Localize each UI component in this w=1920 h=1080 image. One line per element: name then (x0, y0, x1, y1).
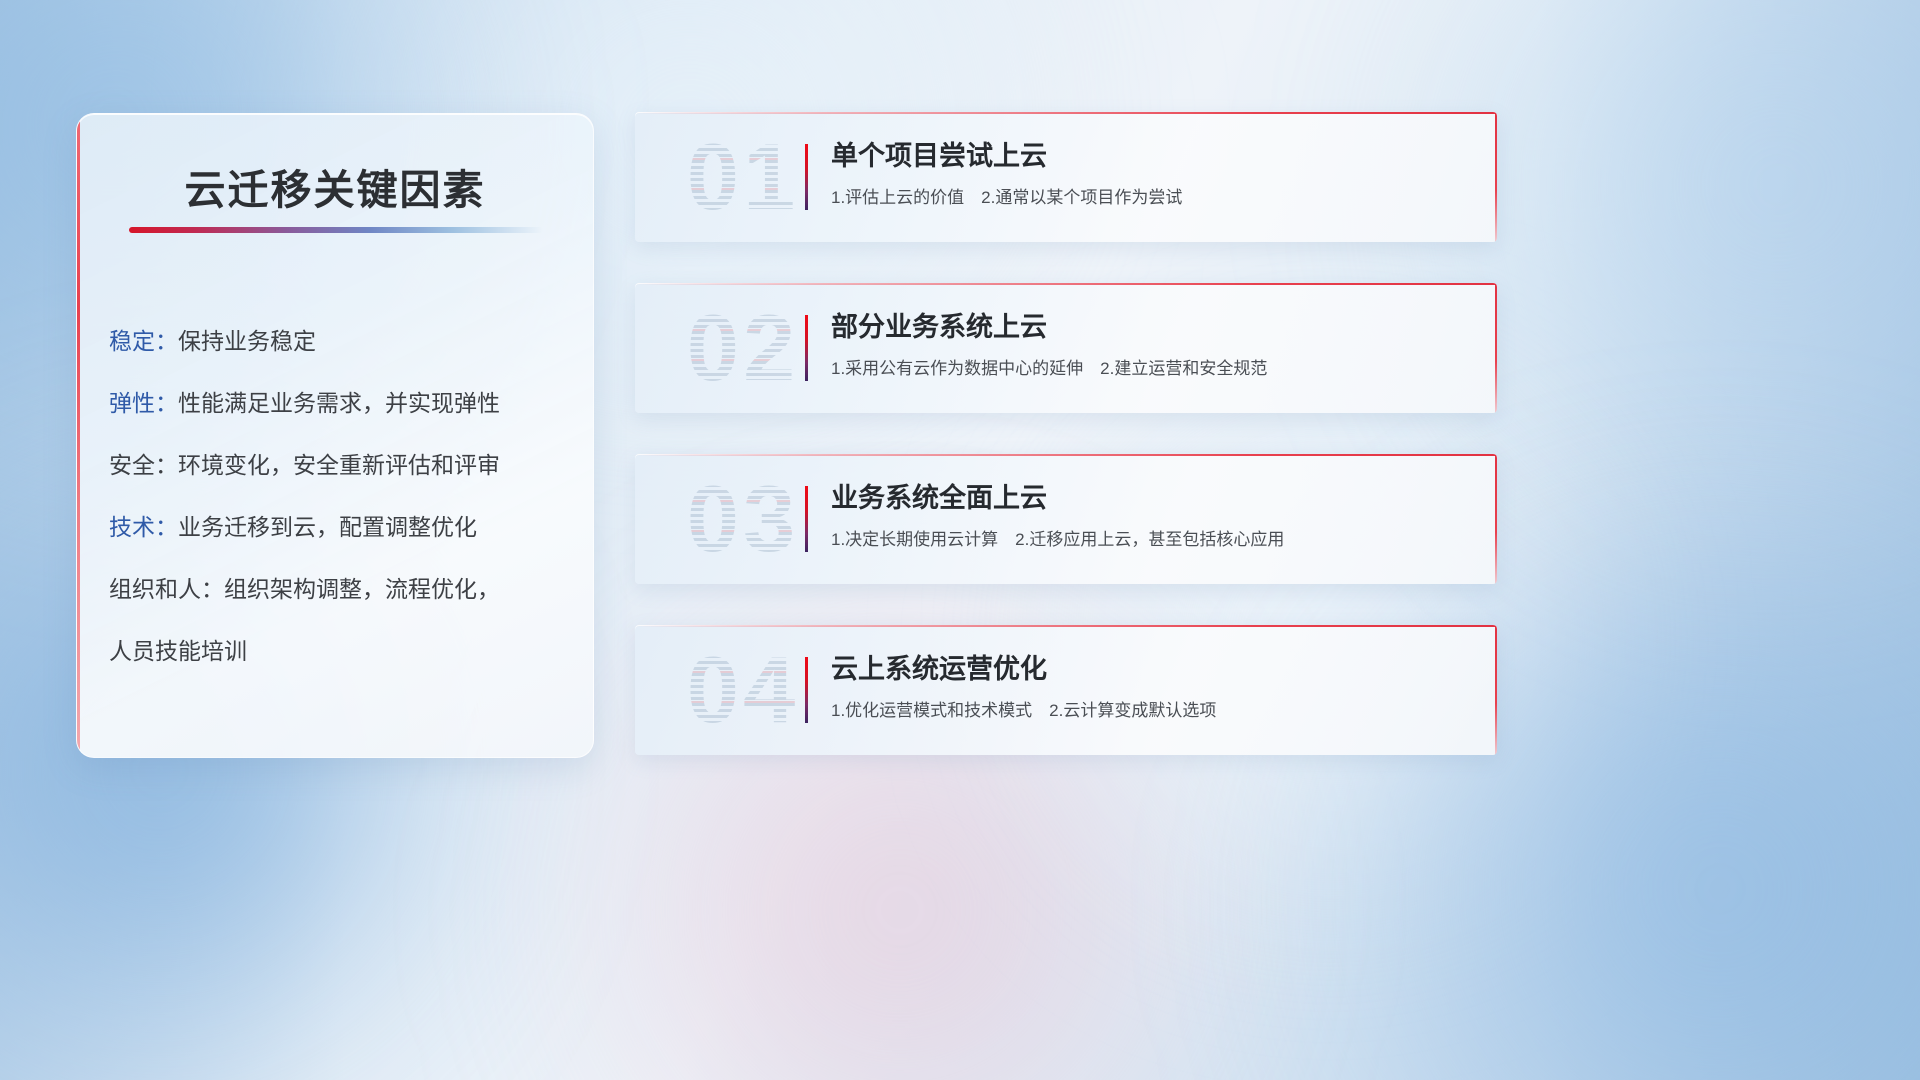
accent-bar (805, 486, 808, 552)
stage-number-ghost-tint: 04 (663, 631, 823, 749)
list-item-key: 技术： (109, 514, 178, 540)
key-factors-list: 稳定：保持业务稳定 弹性：性能满足业务需求，并实现弹性 安全：环境变化，安全重新… (109, 310, 571, 682)
stage-card-body: 单个项目尝试上云 1.评估上云的价值 2.通常以某个项目作为尝试 (831, 136, 1471, 213)
list-item: 技术：业务迁移到云，配置调整优化 (109, 496, 571, 558)
list-item-text: 环境变化，安全重新评估和评审 (178, 452, 500, 478)
list-item: 稳定：保持业务稳定 (109, 310, 571, 372)
stage-card-body: 部分业务系统上云 1.采用公有云作为数据中心的延伸 2.建立运营和安全规范 (831, 307, 1471, 384)
accent-bar (805, 657, 808, 723)
migration-stage-cards: 01 01 单个项目尝试上云 1.评估上云的价值 2.通常以某个项目作为尝试 0… (635, 112, 1497, 796)
stage-card[interactable]: 04 04 云上系统运营优化 1.优化运营模式和技术模式 2.云计算变成默认选项 (635, 625, 1497, 755)
list-item-key: 稳定： (109, 328, 178, 354)
list-item: 弹性：性能满足业务需求，并实现弹性 (109, 372, 571, 434)
list-item-key: 安全： (109, 452, 178, 478)
list-item: 组织和人：组织架构调整，流程优化， (109, 558, 571, 620)
list-item: 安全：环境变化，安全重新评估和评审 (109, 434, 571, 496)
panel-title: 云迁移关键因素 (77, 156, 593, 216)
list-item-key: 弹性： (109, 390, 178, 416)
stage-number-ghost-tint: 01 (663, 118, 823, 236)
stage-card-body: 业务系统全面上云 1.决定长期使用云计算 2.迁移应用上云，甚至包括核心应用 (831, 478, 1471, 555)
stage-card-body: 云上系统运营优化 1.优化运营模式和技术模式 2.云计算变成默认选项 (831, 649, 1471, 726)
stage-card-title: 单个项目尝试上云 (831, 136, 1471, 176)
stage-card-description: 1.优化运营模式和技术模式 2.云计算变成默认选项 (831, 696, 1471, 726)
list-item-text: 保持业务稳定 (178, 328, 316, 354)
accent-bar (805, 315, 808, 381)
stage-card[interactable]: 01 01 单个项目尝试上云 1.评估上云的价值 2.通常以某个项目作为尝试 (635, 112, 1497, 242)
stage-card-title: 业务系统全面上云 (831, 478, 1471, 518)
list-item-key: 组织和人： (109, 576, 224, 602)
stage-card-title: 云上系统运营优化 (831, 649, 1471, 689)
stage-number-ghost: 01 (663, 118, 823, 236)
list-item-text: 业务迁移到云，配置调整优化 (178, 514, 477, 540)
list-item-text: 性能满足业务需求，并实现弹性 (178, 390, 500, 416)
accent-bar (805, 144, 808, 210)
stage-card[interactable]: 02 02 部分业务系统上云 1.采用公有云作为数据中心的延伸 2.建立运营和安… (635, 283, 1497, 413)
list-item: 人员技能培训 (109, 620, 571, 682)
stage-number-ghost: 02 (663, 289, 823, 407)
stage-card[interactable]: 03 03 业务系统全面上云 1.决定长期使用云计算 2.迁移应用上云，甚至包括… (635, 454, 1497, 584)
list-item-text: 组织架构调整，流程优化， (224, 576, 500, 602)
list-item-text: 人员技能培训 (109, 638, 247, 664)
stage-card-description: 1.决定长期使用云计算 2.迁移应用上云，甚至包括核心应用 (831, 525, 1471, 555)
key-factors-panel: 云迁移关键因素 稳定：保持业务稳定 弹性：性能满足业务需求，并实现弹性 安全：环… (76, 113, 594, 758)
stage-number-ghost: 03 (663, 460, 823, 578)
stage-card-description: 1.采用公有云作为数据中心的延伸 2.建立运营和安全规范 (831, 354, 1471, 384)
stage-card-description: 1.评估上云的价值 2.通常以某个项目作为尝试 (831, 183, 1471, 213)
stage-number-ghost-tint: 02 (663, 289, 823, 407)
stage-card-title: 部分业务系统上云 (831, 307, 1471, 347)
stage-number-ghost: 04 (663, 631, 823, 749)
title-underline-rule (129, 227, 543, 233)
slide-stage: 云迁移关键因素 稳定：保持业务稳定 弹性：性能满足业务需求，并实现弹性 安全：环… (0, 0, 1920, 1080)
stage-number-ghost-tint: 03 (663, 460, 823, 578)
